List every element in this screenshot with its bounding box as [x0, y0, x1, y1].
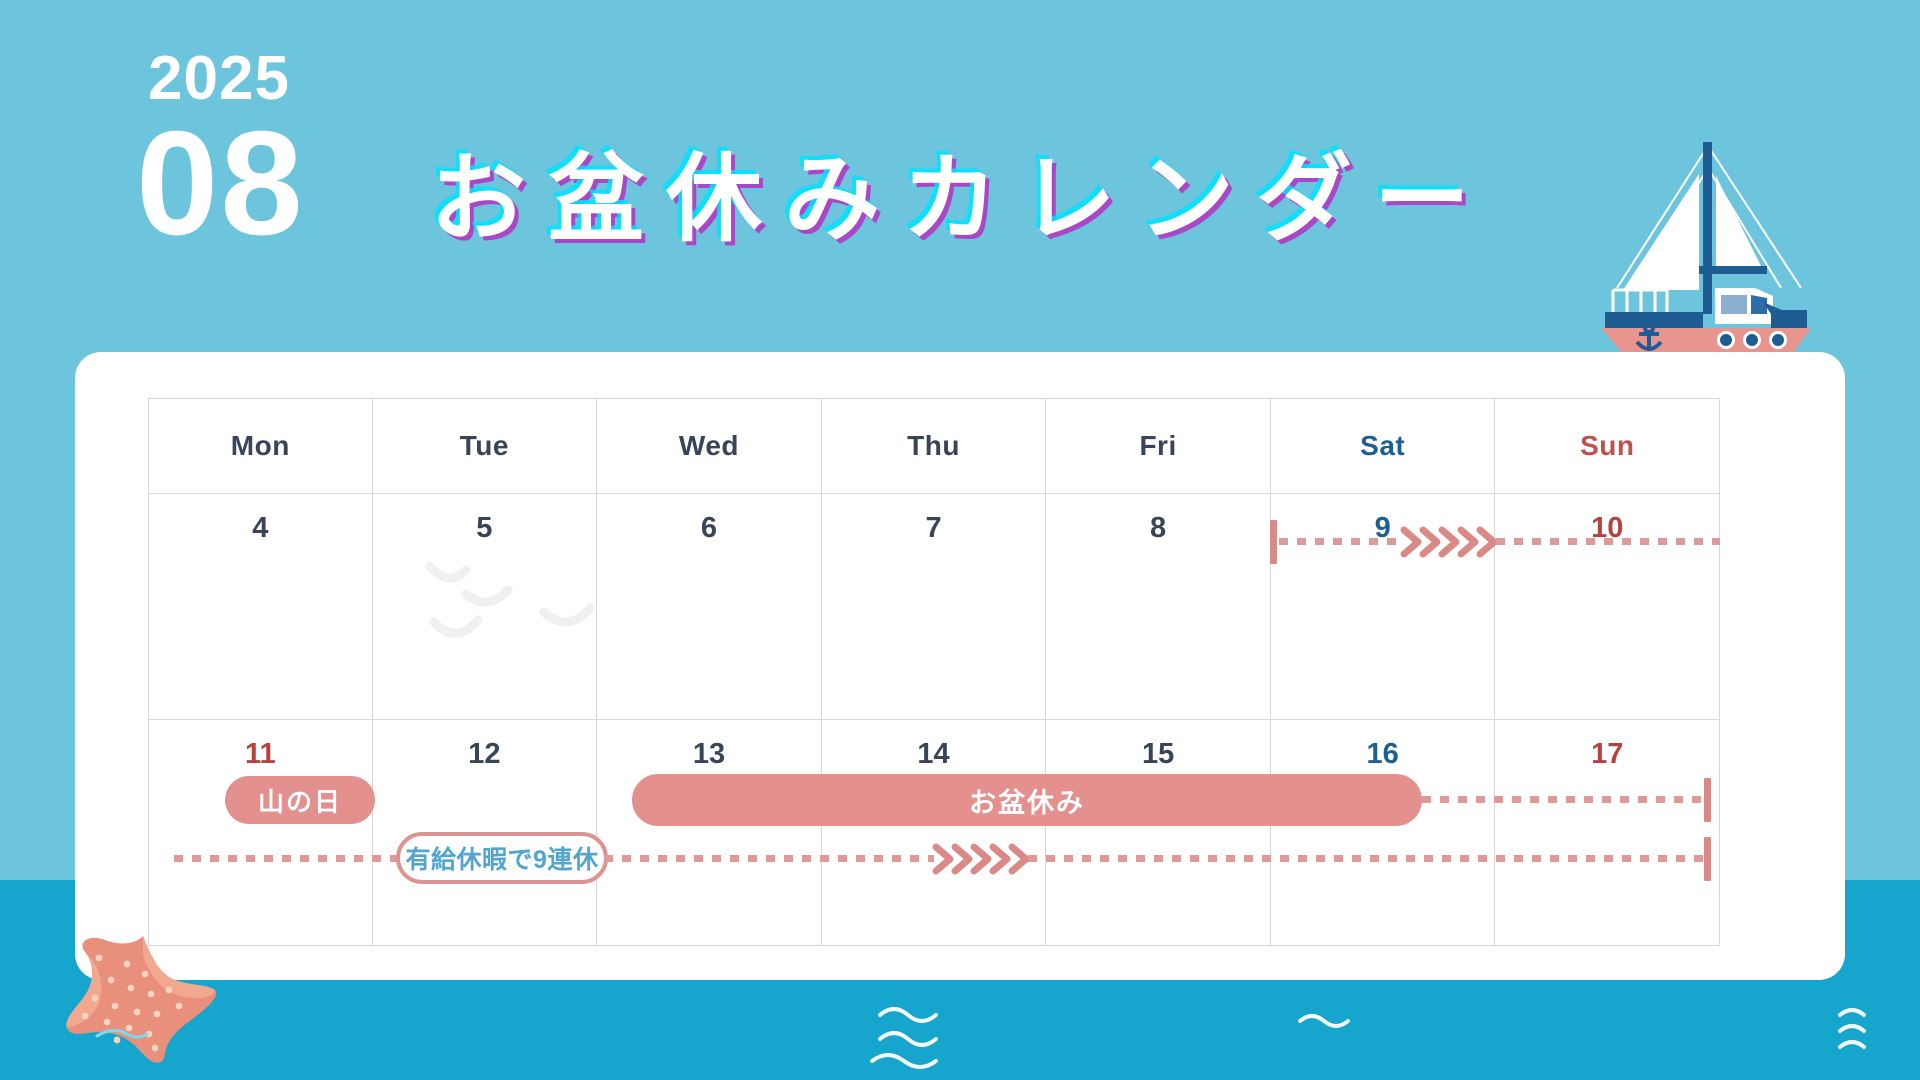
day-header-label: Tue [373, 430, 597, 462]
day-number: 16 [1271, 738, 1495, 771]
day-cell[interactable]: 5 [373, 494, 598, 720]
day-number: 6 [597, 512, 821, 545]
day-cell[interactable]: 4 [148, 494, 373, 720]
day-number: 7 [822, 512, 1046, 545]
day-header-cell: Thu [822, 398, 1047, 494]
calendar-grid: Mon Tue Wed Thu Fri Sat Sun 4 5 6 7 8 9 … [148, 398, 1720, 946]
wave-pattern [0, 995, 1920, 1080]
day-number: 5 [373, 512, 597, 545]
day-cell[interactable]: 17 [1495, 720, 1720, 946]
calendar-week-row: 4 5 6 7 8 9 10 [148, 494, 1720, 720]
day-header-cell: Mon [148, 398, 373, 494]
day-header-label: Wed [597, 430, 821, 462]
day-header-cell: Tue [373, 398, 598, 494]
day-number: 8 [1046, 512, 1270, 545]
day-header-cell: Sat [1271, 398, 1496, 494]
day-header-cell: Sun [1495, 398, 1720, 494]
calendar-week-row: 11 12 13 14 15 16 17 [148, 720, 1720, 946]
day-number: 15 [1046, 738, 1270, 771]
day-cell[interactable]: 8 [1046, 494, 1271, 720]
day-number: 11 [149, 738, 372, 771]
starfish-icon [55, 928, 220, 1068]
day-cell[interactable]: 16 [1271, 720, 1496, 946]
day-number: 9 [1271, 512, 1495, 545]
day-cell[interactable]: 15 [1046, 720, 1271, 946]
day-header-label: Fri [1046, 430, 1270, 462]
month-label: 08 [136, 110, 305, 258]
day-cell[interactable]: 6 [597, 494, 822, 720]
day-cell[interactable]: 11 [148, 720, 373, 946]
calendar-header-row: Mon Tue Wed Thu Fri Sat Sun [148, 398, 1720, 494]
day-cell[interactable]: 9 [1271, 494, 1496, 720]
day-number: 17 [1495, 738, 1719, 771]
calendar-card: Mon Tue Wed Thu Fri Sat Sun 4 5 6 7 8 9 … [75, 352, 1845, 980]
day-header-label: Sat [1271, 430, 1495, 462]
sailboat-icon [1595, 138, 1825, 363]
day-number: 4 [149, 512, 372, 545]
day-number: 12 [373, 738, 597, 771]
day-cell[interactable]: 10 [1495, 494, 1720, 720]
day-header-label: Sun [1495, 430, 1719, 462]
day-number: 10 [1495, 512, 1719, 545]
day-number: 13 [597, 738, 821, 771]
day-cell[interactable]: 12 [373, 720, 598, 946]
day-cell[interactable]: 14 [822, 720, 1047, 946]
day-number: 14 [822, 738, 1046, 771]
day-header-cell: Fri [1046, 398, 1271, 494]
day-header-label: Thu [822, 430, 1046, 462]
day-cell[interactable]: 7 [822, 494, 1047, 720]
day-header-label: Mon [149, 430, 372, 462]
day-cell[interactable]: 13 [597, 720, 822, 946]
page-title: お盆休みカレンダー [430, 150, 1492, 251]
day-header-cell: Wed [597, 398, 822, 494]
